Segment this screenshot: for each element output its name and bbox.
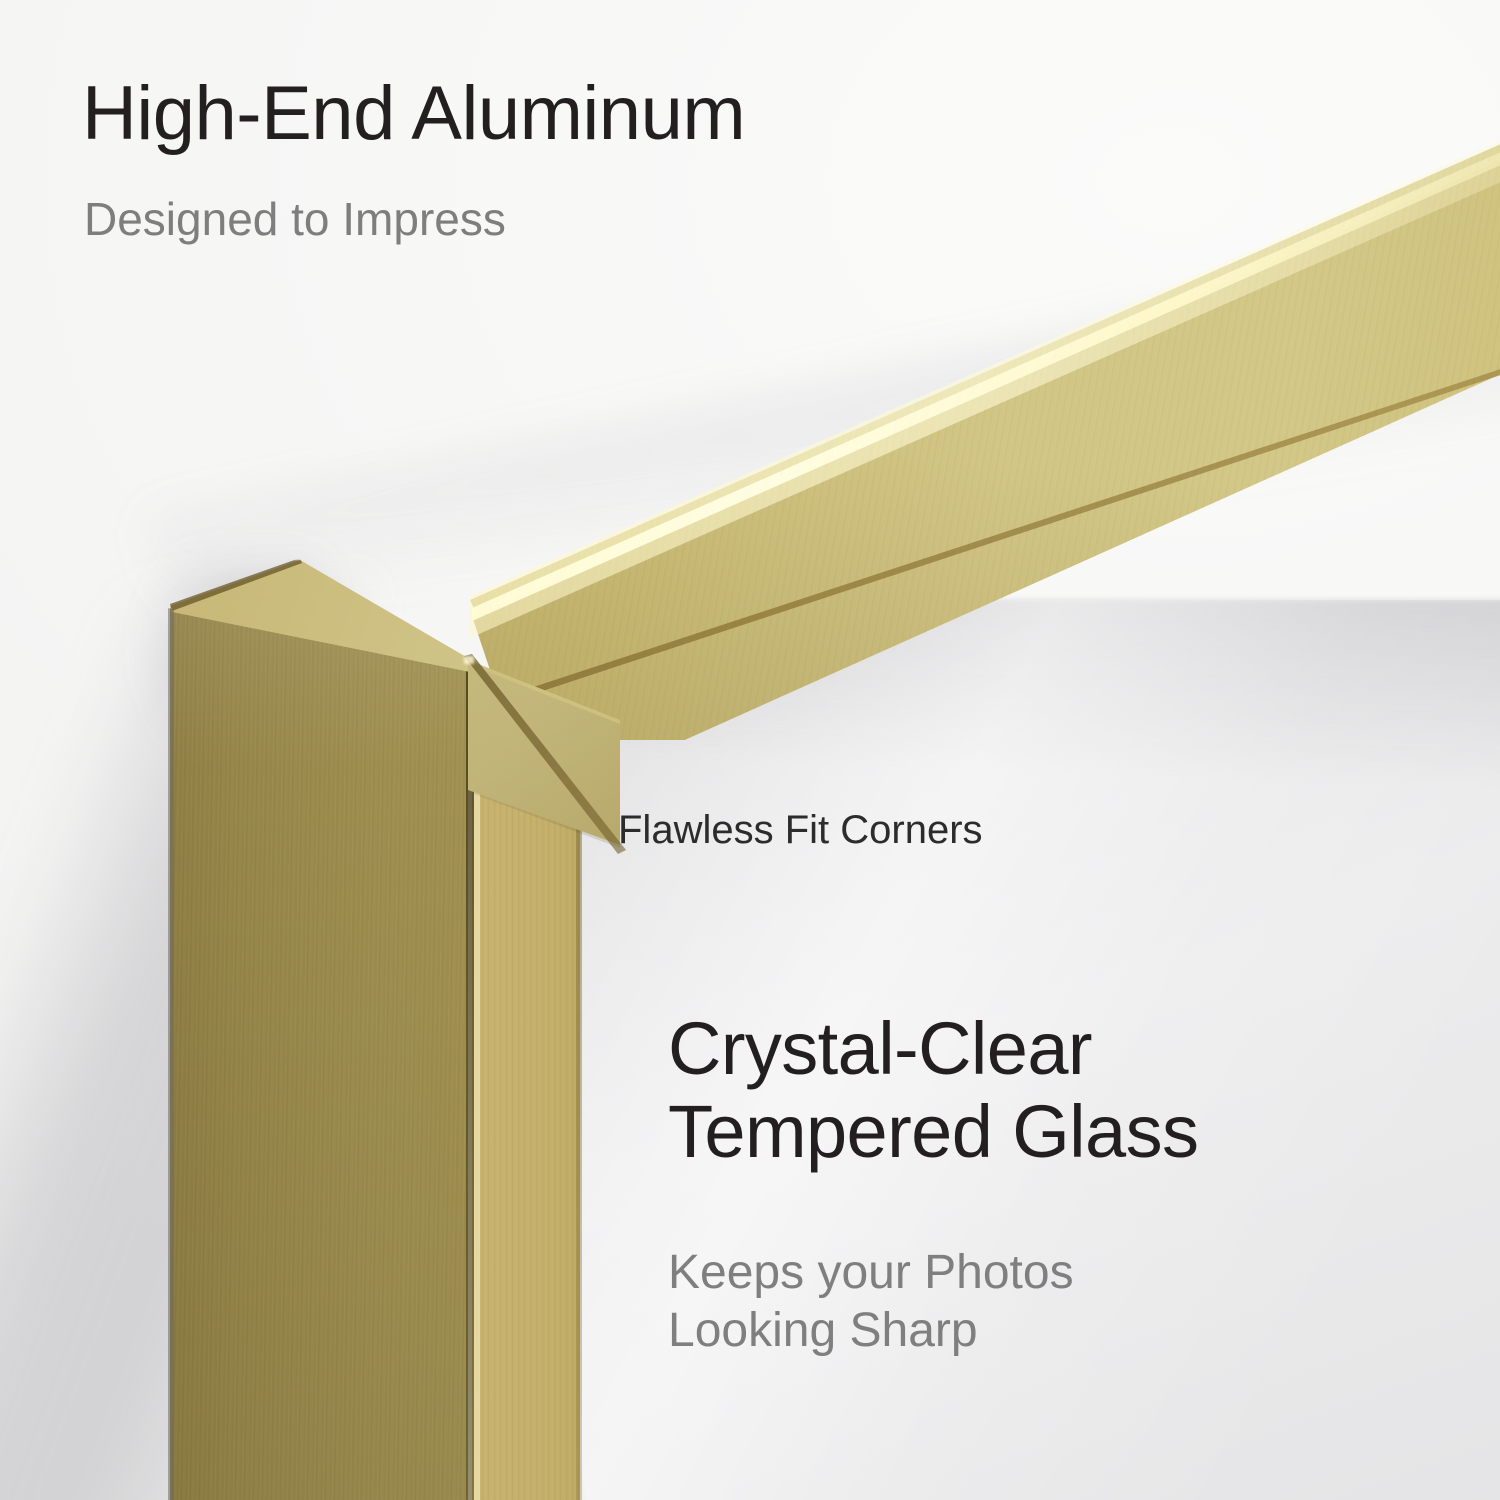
frame-corner-shadow: [60, 560, 320, 860]
product-feature-image: High-End Aluminum Designed to Impress Fl…: [0, 0, 1500, 1500]
glass-feature-subtitle-line1: Keeps your Photos: [668, 1244, 1074, 1302]
callout-flawless-fit-corners: Flawless Fit Corners: [618, 808, 983, 853]
glass-feature-subtitle-line2: Looking Sharp: [668, 1302, 1074, 1360]
glass-feature-title-line1: Crystal-Clear: [668, 1008, 1198, 1091]
page-subtitle: Designed to Impress: [84, 194, 506, 245]
glass-feature-title: Crystal-Clear Tempered Glass: [668, 1008, 1198, 1174]
glass-feature-subtitle: Keeps your Photos Looking Sharp: [668, 1244, 1074, 1359]
page-title: High-End Aluminum: [82, 74, 745, 154]
glass-inner-shadow: [470, 600, 1500, 800]
glass-feature-title-line2: Tempered Glass: [668, 1091, 1198, 1174]
